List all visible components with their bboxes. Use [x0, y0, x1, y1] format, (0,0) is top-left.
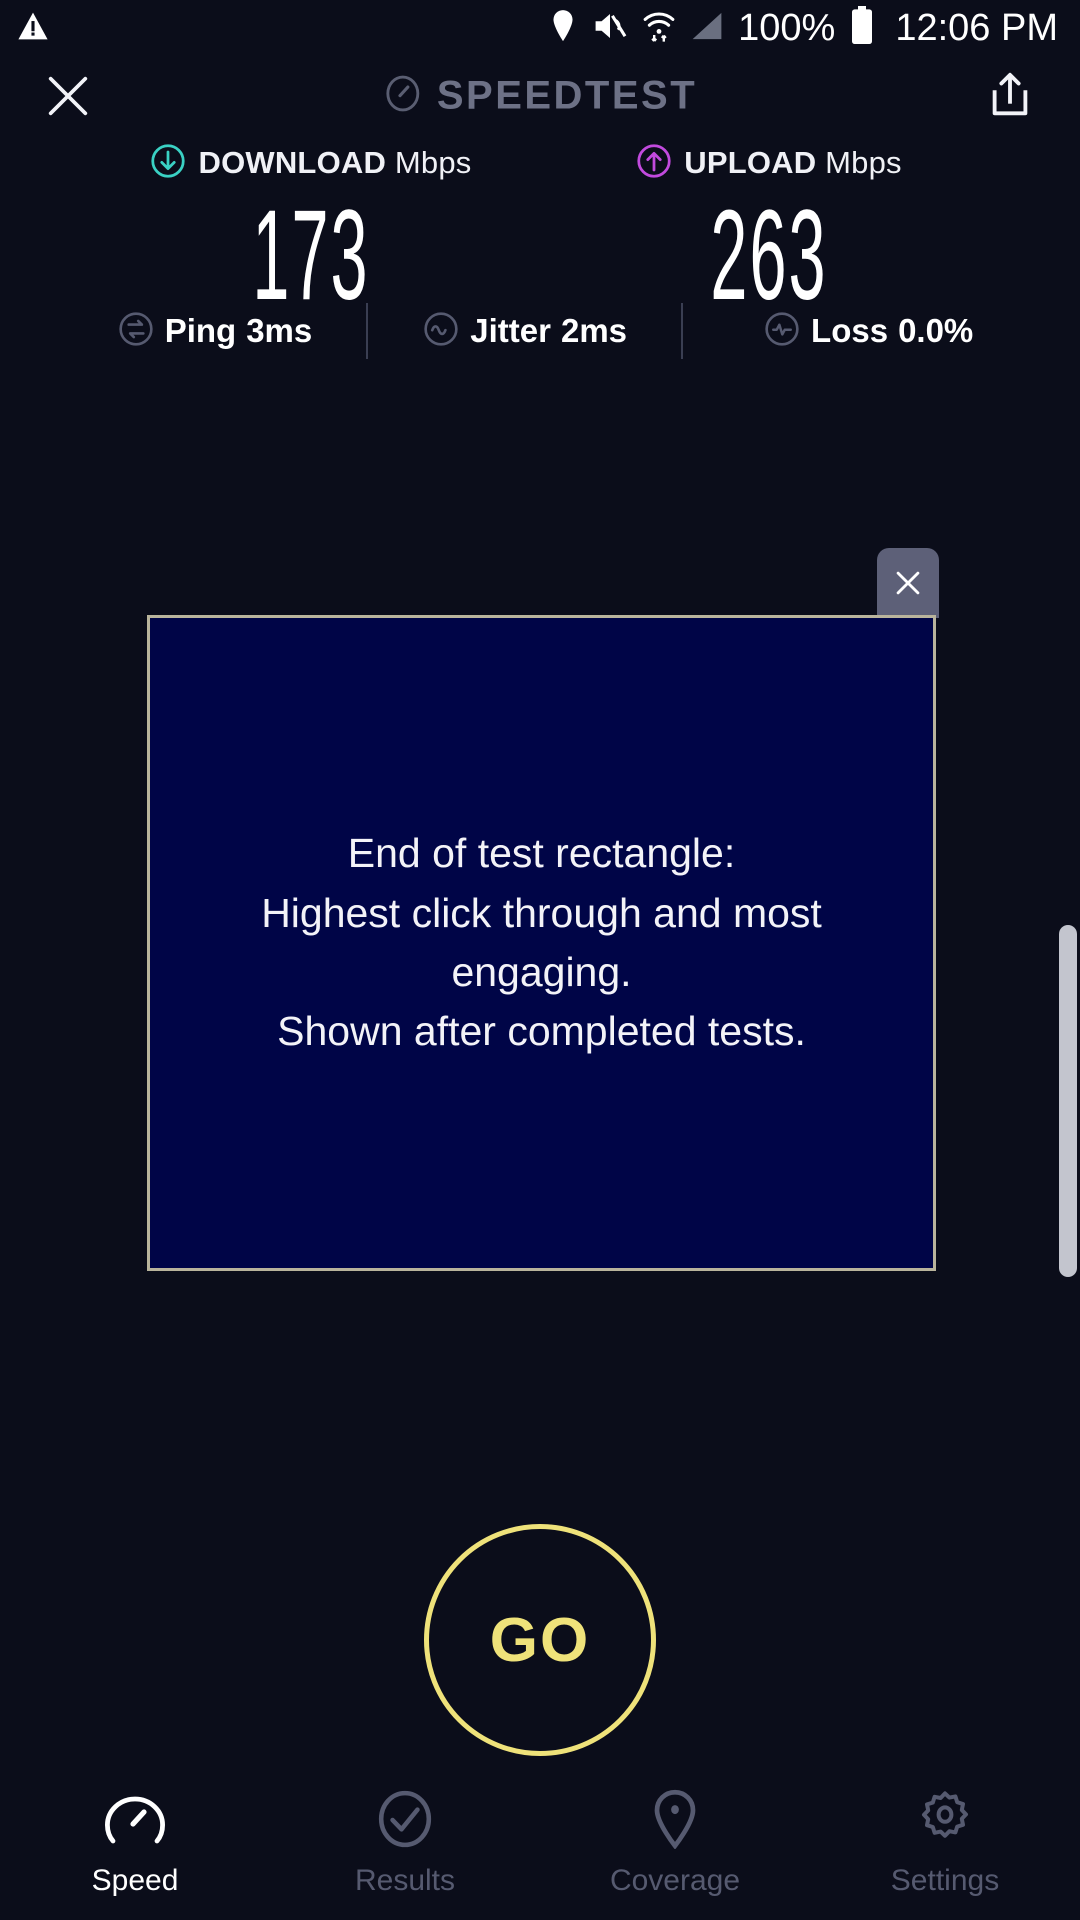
brand-title: SPEEDTEST	[383, 74, 697, 119]
gear-icon	[915, 1788, 975, 1850]
download-unit-text: Mbps	[395, 145, 472, 180]
nav-label-results: Results	[355, 1864, 455, 1898]
download-upload-row: DOWNLOAD Mbps 173 UPLOAD	[0, 140, 1080, 320]
download-label: DOWNLOAD Mbps	[198, 145, 471, 181]
results-summary: DOWNLOAD Mbps 173 UPLOAD	[0, 140, 1080, 320]
arrow-up-circle-icon	[636, 143, 672, 184]
share-icon	[986, 71, 1034, 121]
nav-label-speed: Speed	[92, 1864, 179, 1898]
metric-jitter: Jitter 2ms	[392, 300, 657, 362]
upload-header: UPLOAD Mbps	[569, 140, 969, 186]
upload-label: UPLOAD Mbps	[684, 145, 902, 181]
close-test-button[interactable]	[36, 64, 100, 128]
nav-item-settings[interactable]: Settings	[810, 1788, 1080, 1898]
advertisement-container: End of test rectangle: Highest click thr…	[147, 615, 936, 1271]
metric-jitter-label: Jitter	[470, 312, 551, 350]
mute-icon	[592, 9, 628, 48]
jitter-icon	[422, 310, 460, 353]
metric-divider	[366, 303, 368, 359]
speedometer-icon	[104, 1788, 166, 1850]
status-bar-left	[16, 9, 50, 48]
metrics-row: Ping 3ms Jitter 2ms Loss 0.0	[0, 300, 1080, 362]
share-button[interactable]	[980, 66, 1040, 126]
nav-item-speed[interactable]: Speed	[0, 1788, 270, 1898]
nav-item-coverage[interactable]: Coverage	[540, 1788, 810, 1898]
download-label-text: DOWNLOAD	[198, 145, 386, 180]
go-button-label: GO	[490, 1605, 590, 1676]
nav-label-coverage: Coverage	[610, 1864, 740, 1898]
ad-close-button[interactable]	[877, 548, 939, 618]
battery-full-icon	[849, 6, 875, 51]
metric-loss-label: Loss	[811, 312, 888, 350]
vertical-scrollbar-thumb[interactable]	[1059, 925, 1077, 1277]
download-result: DOWNLOAD Mbps 173	[111, 140, 511, 320]
ping-icon	[117, 310, 155, 353]
status-bar: 100% 12:06 PM	[0, 0, 1080, 56]
app-header: SPEEDTEST	[0, 56, 1080, 136]
close-icon	[891, 566, 925, 600]
arrow-down-circle-icon	[150, 143, 186, 184]
nav-label-settings: Settings	[891, 1864, 999, 1898]
clock-label: 12:06 PM	[895, 7, 1058, 50]
location-pin-icon	[649, 1788, 701, 1850]
metric-ping: Ping 3ms	[87, 300, 343, 362]
wifi-icon	[642, 8, 676, 49]
battery-percent-label: 100%	[738, 7, 835, 50]
download-header: DOWNLOAD Mbps	[111, 140, 511, 186]
metric-loss: Loss 0.0%	[733, 300, 1003, 362]
warning-triangle-icon	[16, 9, 50, 48]
metric-jitter-value: 2ms	[561, 312, 627, 350]
speedtest-app-screen: 100% 12:06 PM SPEEDTEST	[0, 0, 1080, 1920]
upload-result: UPLOAD Mbps 263	[569, 140, 969, 320]
speedometer-icon	[383, 74, 423, 119]
ad-creative[interactable]: End of test rectangle: Highest click thr…	[147, 615, 936, 1271]
metric-loss-value: 0.0%	[898, 312, 973, 350]
upload-label-text: UPLOAD	[684, 145, 816, 180]
close-icon	[42, 70, 94, 122]
brand-label: SPEEDTEST	[437, 74, 697, 119]
ad-text: End of test rectangle: Highest click thr…	[150, 824, 933, 1062]
bottom-navigation: Speed Results Coverage	[0, 1776, 1080, 1920]
nav-item-results[interactable]: Results	[270, 1788, 540, 1898]
loss-icon	[763, 310, 801, 353]
status-bar-right: 100% 12:06 PM	[548, 6, 1058, 51]
metric-ping-label: Ping	[165, 312, 237, 350]
go-button[interactable]: GO	[424, 1524, 656, 1756]
location-pin-icon	[548, 9, 578, 48]
upload-unit-text: Mbps	[825, 145, 902, 180]
cellular-signal-icon	[690, 10, 724, 47]
metric-ping-value: 3ms	[246, 312, 312, 350]
metric-divider	[681, 303, 683, 359]
check-circle-icon	[376, 1788, 434, 1850]
